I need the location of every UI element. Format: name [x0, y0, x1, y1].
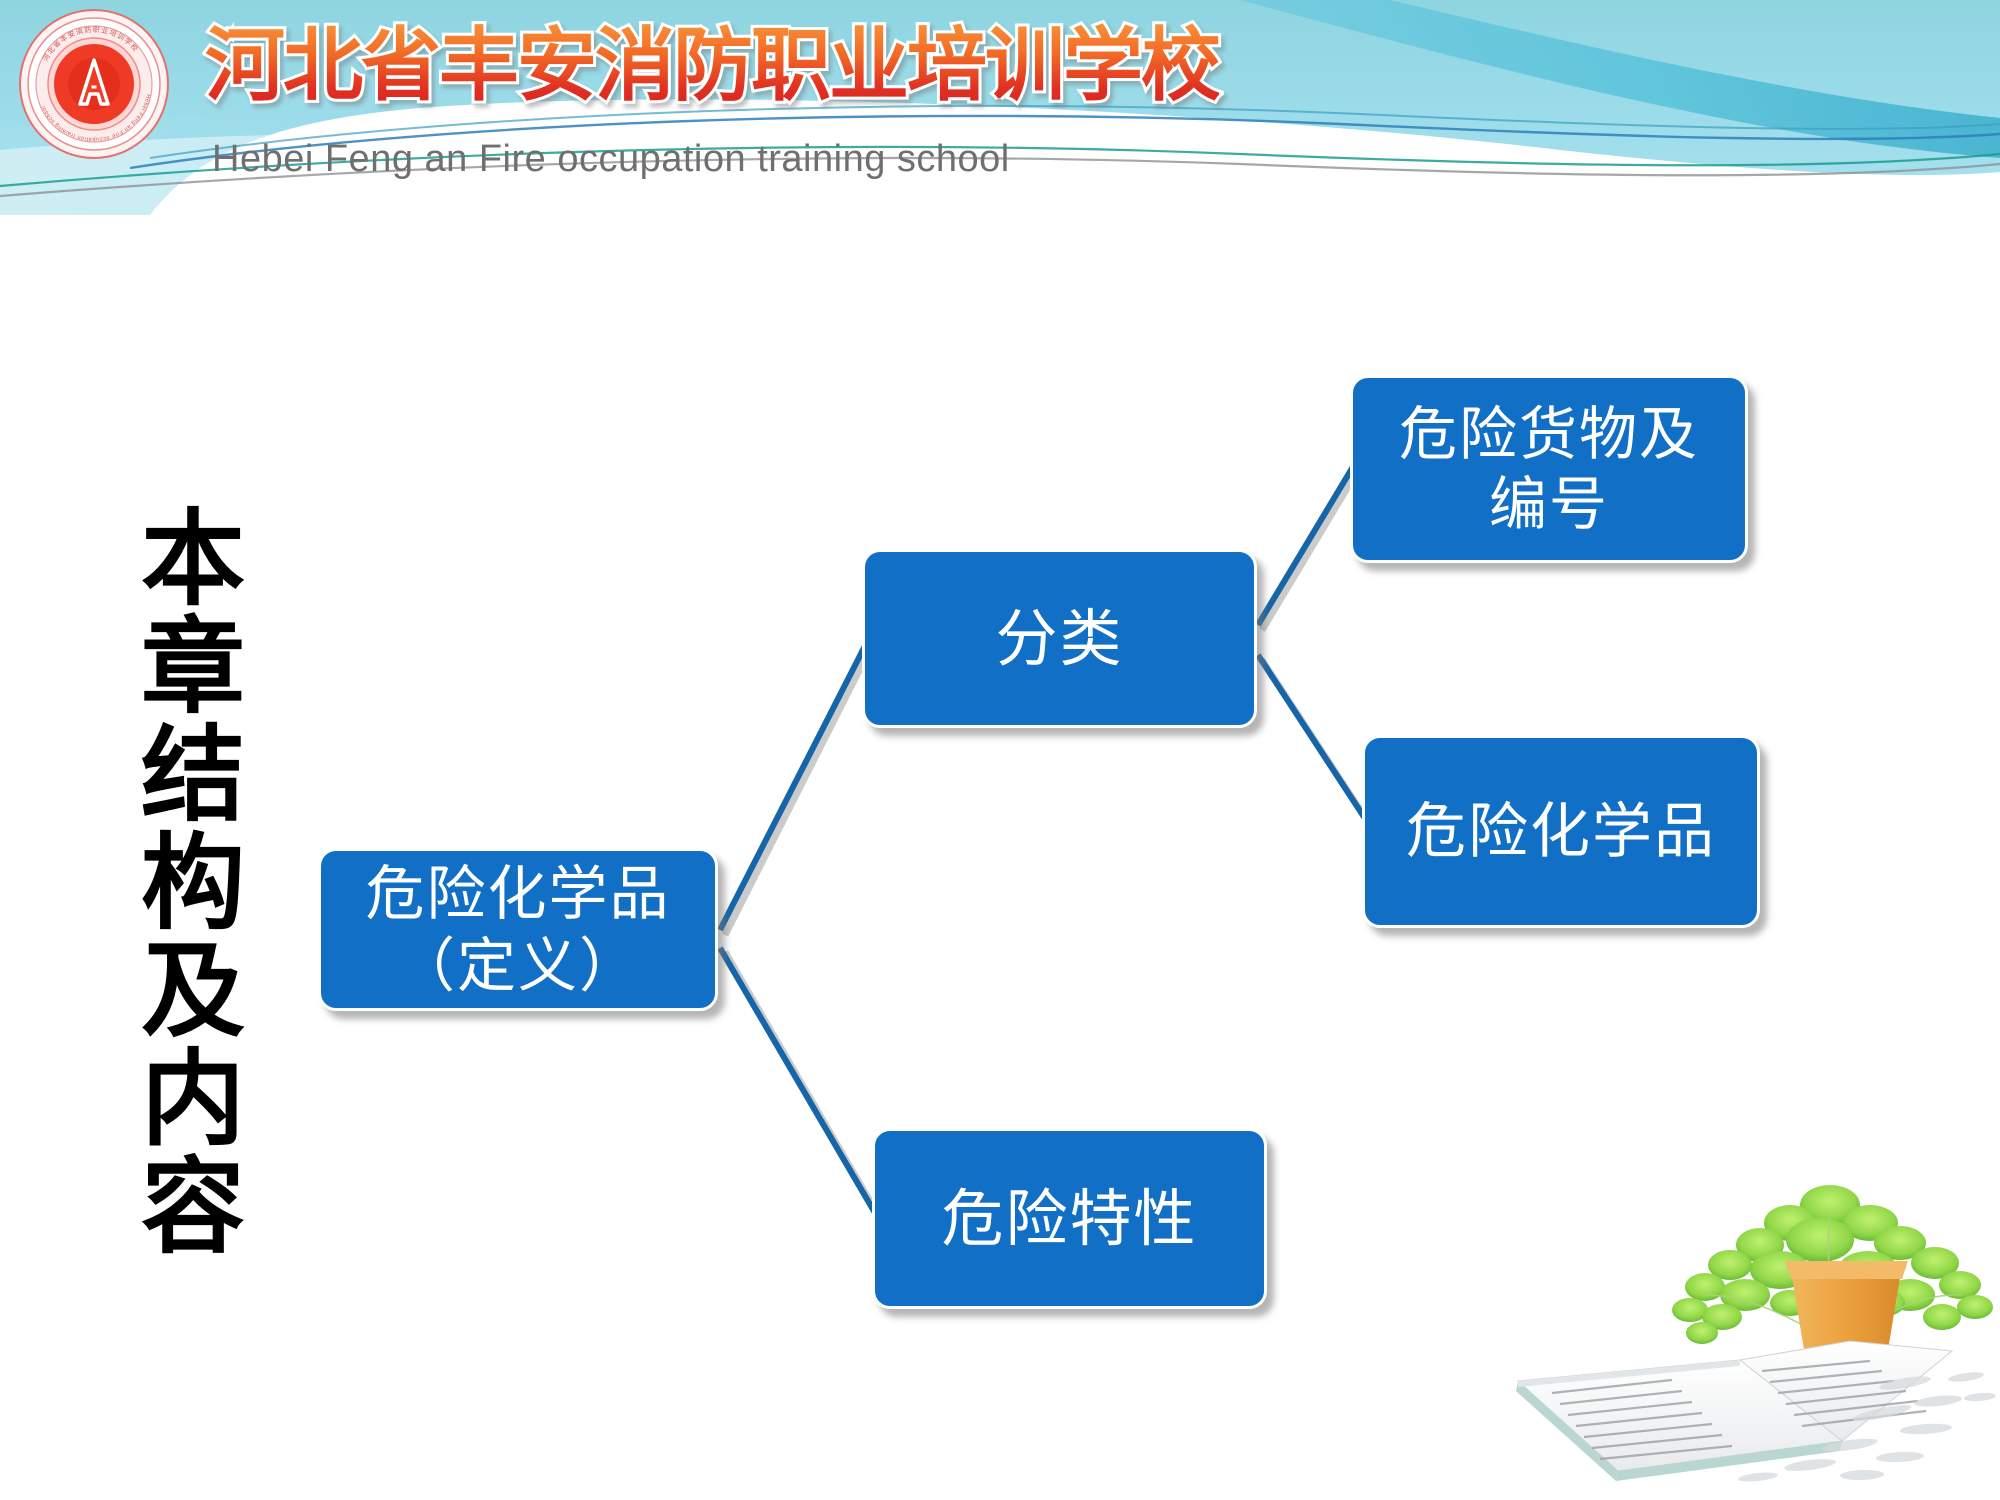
banner-title: 河北省丰安消防职业培训学校 — [205, 16, 1219, 116]
title-char: 构 — [128, 829, 258, 937]
banner-subtitle: Hebei Feng an Fire occupation training s… — [212, 138, 1010, 181]
diagram-node-hazardous-chemicals[interactable]: 危险化学品 — [1362, 735, 1760, 928]
node-label: 危险特性 — [933, 1182, 1205, 1256]
diagram-node-dangerous-goods[interactable]: 危险货物及 编号 — [1350, 375, 1748, 563]
title-char: 结 — [128, 721, 258, 829]
school-seal-logo-icon: 河北省丰安消防职业培训学校 Hebei Feng an Fire occupat… — [18, 8, 170, 160]
page-title-vertical: 本 章 结 构 及 内 容 — [128, 505, 258, 1261]
title-char: 内 — [128, 1045, 258, 1153]
book-and-plant-icon — [1490, 1145, 2000, 1500]
diagram-node-classification[interactable]: 分类 — [862, 549, 1257, 728]
page-header: 河北省丰安消防职业培训学校 Hebei Feng an Fire occupat… — [0, 0, 2000, 215]
diagram-node-hazard-characteristics[interactable]: 危险特性 — [872, 1128, 1267, 1309]
node-label: 分类 — [987, 602, 1131, 676]
node-label: 危险化学品 — [1398, 796, 1724, 868]
title-char: 容 — [128, 1153, 258, 1261]
node-label: 危险化学品 （定义） — [357, 858, 678, 1002]
node-label: 危险货物及 编号 — [1391, 399, 1707, 539]
title-char: 本 — [128, 505, 258, 613]
title-char: 及 — [128, 937, 258, 1045]
diagram-node-root[interactable]: 危险化学品 （定义） — [318, 848, 718, 1011]
title-char: 章 — [128, 613, 258, 721]
